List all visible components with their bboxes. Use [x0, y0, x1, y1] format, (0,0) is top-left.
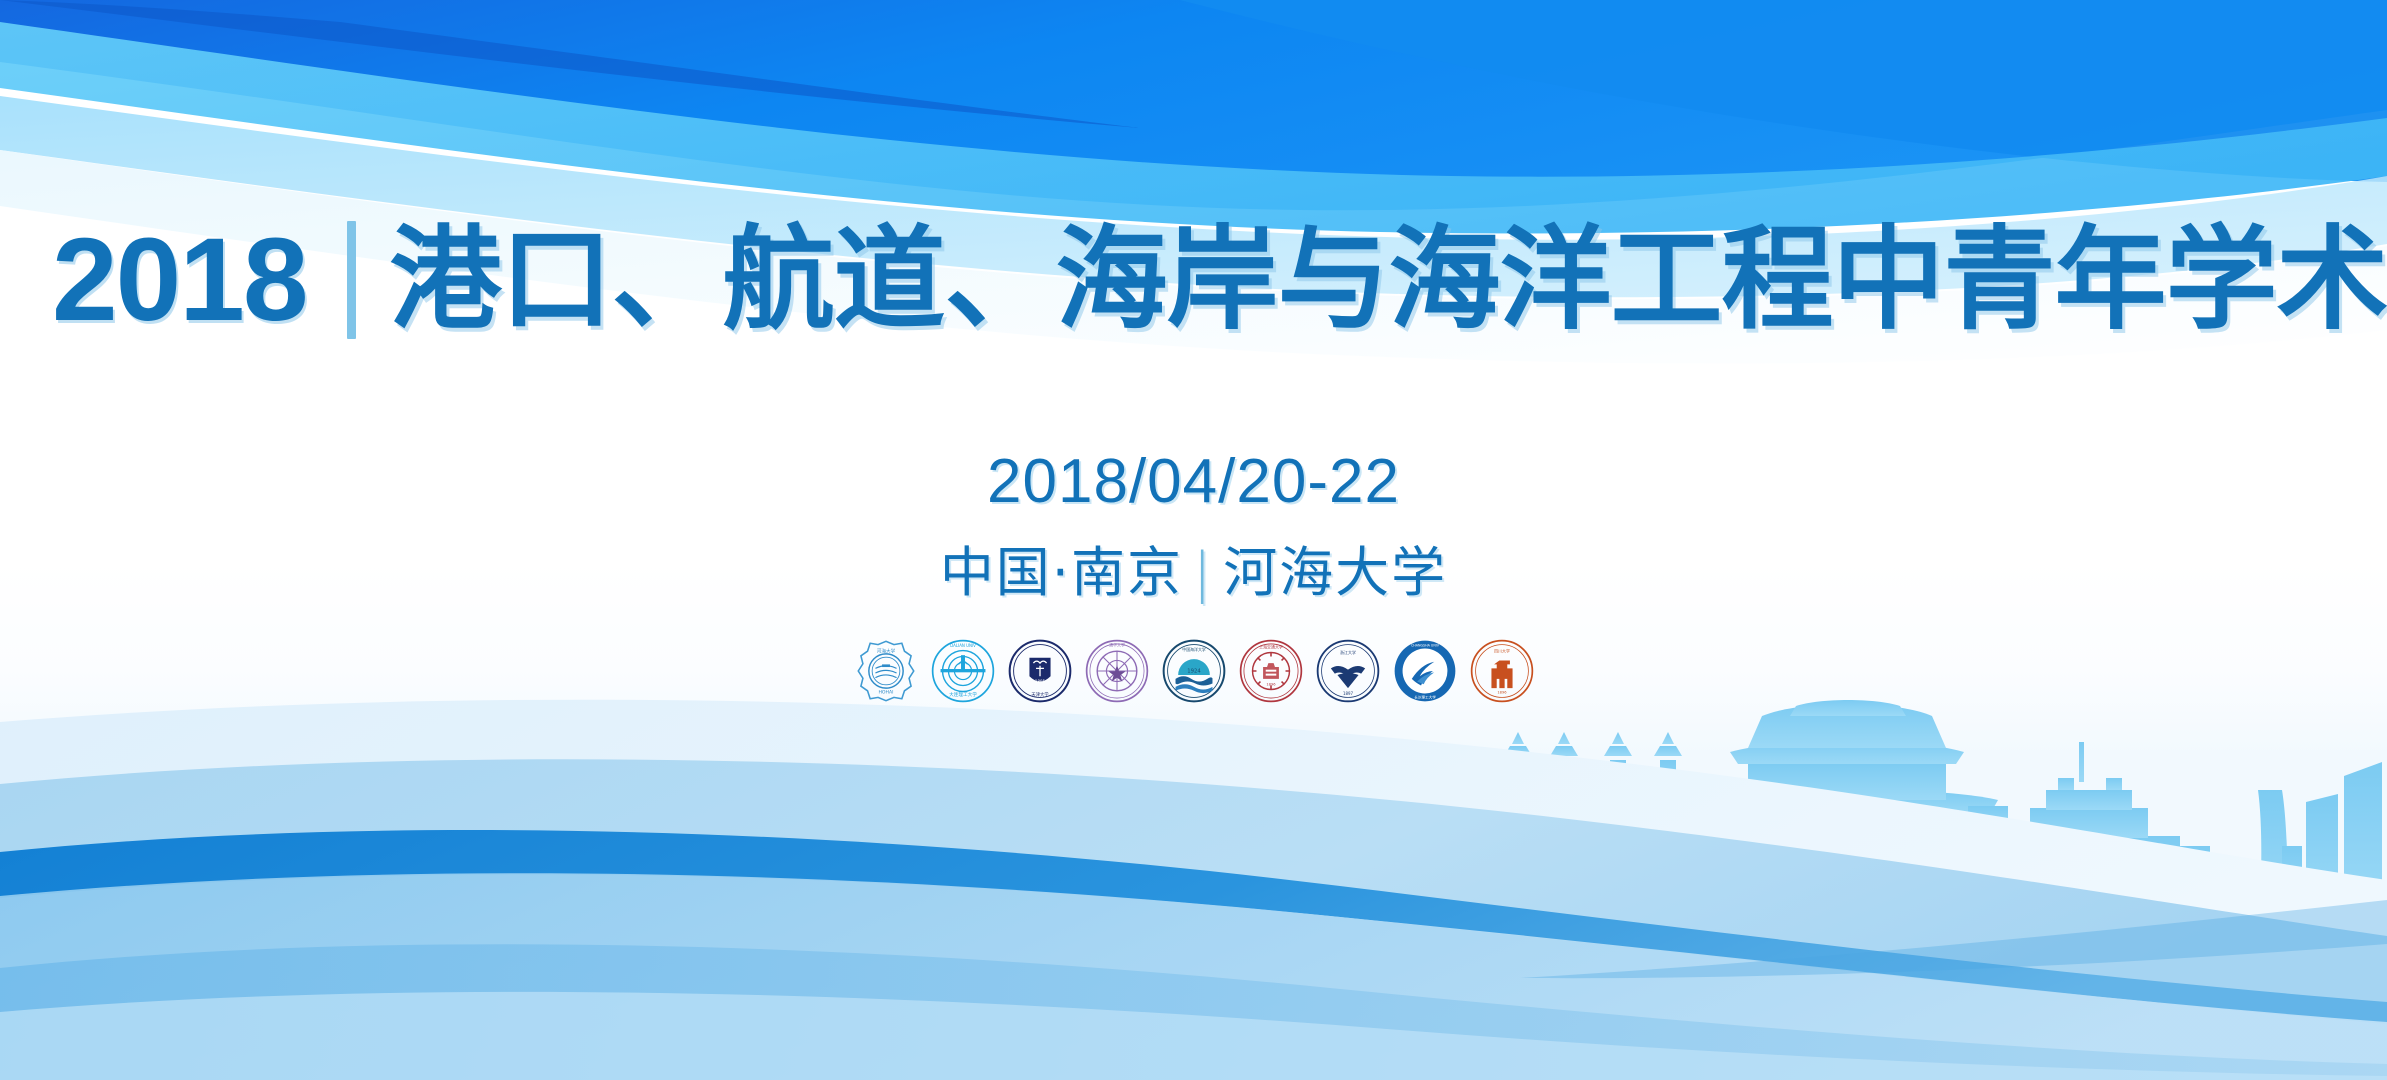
svg-text:四川大学: 四川大学	[1494, 649, 1510, 654]
conference-venue: 中国·南京|河海大学	[0, 528, 2387, 607]
svg-text:天津大学: 天津大学	[1031, 691, 1049, 698]
svg-text:浙江大学: 浙江大学	[1340, 650, 1356, 655]
logo-dalian-university-of-technology: DALIAN UNIV 大连理工大学	[930, 638, 996, 704]
svg-text:1896: 1896	[1497, 690, 1507, 694]
logo-hohai-university: HOHAI 河海大学	[853, 638, 919, 704]
venue-separator: |	[1183, 541, 1223, 604]
banner-title-row: 2018 港口、航道、海岸与海洋工程中青年学术研讨会	[0, 215, 2387, 345]
svg-text:1897: 1897	[1342, 691, 1353, 696]
svg-text:1896: 1896	[1266, 683, 1276, 687]
organizer-logo-row: HOHAI 河海大学 DALIAN UNIV 大连理工大学 1895 天津大学	[0, 638, 2387, 704]
logo-changsha-university-of-science-technology: CHANGSHA UNIV 长沙理工大学	[1392, 638, 1458, 704]
logo-tianjin-university: 1895 天津大学	[1007, 638, 1073, 704]
logo-shanghai-jiao-tong-university: 1896 上海交通大学	[1238, 638, 1304, 704]
svg-text:DALIAN UNIV: DALIAN UNIV	[950, 643, 976, 648]
venue-host: 河海大学	[1223, 541, 1447, 604]
svg-text:1924: 1924	[1187, 668, 1201, 674]
conference-date: 2018/04/20-22	[0, 446, 2387, 517]
svg-text:长沙理工大学: 长沙理工大学	[1414, 695, 1436, 700]
banner-main-title: 港口、航道、海岸与海洋工程中青年学术研讨会	[390, 224, 2387, 336]
conference-banner: 2018 港口、航道、海岸与海洋工程中青年学术研讨会 2018/04/20-22…	[0, 0, 2387, 1080]
logo-zhejiang-university: 1897 浙江大学	[1315, 638, 1381, 704]
svg-text:河海大学: 河海大学	[876, 648, 895, 655]
svg-text:上海交通大学: 上海交通大学	[1259, 645, 1283, 650]
svg-text:1895: 1895	[1034, 679, 1045, 684]
logo-sichuan-university: 1896 四川大学	[1469, 638, 1535, 704]
venue-city: 中国·南京	[940, 541, 1183, 604]
title-divider	[347, 221, 356, 339]
logo-ocean-university-of-china: 1924 中国海洋大学	[1161, 638, 1227, 704]
svg-text:清华大学: 清华大学	[1109, 643, 1125, 648]
svg-text:CHANGSHA UNIV: CHANGSHA UNIV	[1410, 644, 1439, 648]
banner-year: 2018	[52, 221, 307, 339]
logo-tsinghua-university: 清华大学	[1084, 638, 1150, 704]
svg-text:中国海洋大学: 中国海洋大学	[1182, 647, 1206, 652]
svg-text:HOHAI: HOHAI	[878, 689, 893, 695]
